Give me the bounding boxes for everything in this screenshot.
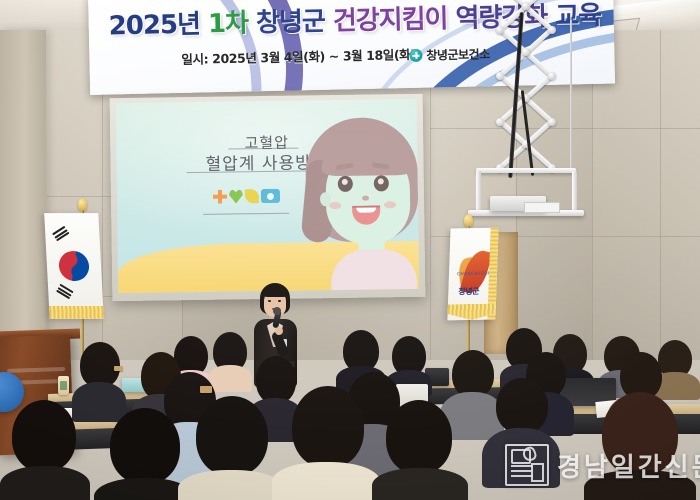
hair-clip bbox=[200, 386, 212, 393]
cartoon-nurse-illustration bbox=[303, 117, 419, 291]
audience-member bbox=[0, 400, 90, 500]
wall-seam bbox=[660, 30, 661, 360]
audience-member bbox=[272, 386, 380, 500]
taeguk-symbol bbox=[53, 245, 95, 287]
projector-scissor-lift bbox=[462, 0, 590, 228]
audience-member bbox=[372, 400, 468, 500]
banner-title-county: 창녕군 bbox=[256, 7, 325, 38]
beverage-cup bbox=[58, 376, 69, 395]
newspaper-icon bbox=[505, 444, 549, 486]
flag-fringe bbox=[49, 306, 104, 319]
audience-member bbox=[178, 396, 284, 500]
wall-pillar bbox=[0, 30, 46, 360]
health-center-logo-icon bbox=[409, 49, 422, 62]
korean-national-flag bbox=[44, 213, 104, 319]
heart-icon bbox=[229, 189, 243, 203]
monitor-icon bbox=[261, 189, 280, 203]
banner-title-session: 1차 bbox=[208, 9, 249, 40]
projection-screen-frame: 고혈압 혈압계 사용방법 bbox=[110, 94, 426, 301]
trigram-icon bbox=[52, 226, 69, 242]
leaf-icon bbox=[245, 189, 259, 203]
lift-label bbox=[524, 202, 560, 213]
lift-guide-rod bbox=[570, 20, 572, 170]
watermark-text: 경남일간신문 bbox=[557, 447, 700, 484]
microphone-head bbox=[273, 307, 281, 315]
banner-date-line: 일시: 2025년 3월 4일(화) ~ 3월 18일(화) bbox=[181, 44, 416, 68]
banner-title-year: 2025년 bbox=[108, 10, 200, 42]
event-photograph: 2025년 1차 창녕군 건강지킴이 역량강화 교육 일시: 2025년 3월 … bbox=[0, 0, 700, 500]
medical-cross-icon bbox=[213, 190, 227, 204]
watermark: 경남일간신문 bbox=[505, 444, 700, 486]
banner-title-program: 건강지킴이 bbox=[333, 4, 448, 36]
county-flag-label: 창녕군 bbox=[458, 286, 479, 297]
slide-underline bbox=[203, 213, 289, 215]
hair-clip bbox=[114, 366, 123, 371]
slide-icon-row bbox=[213, 189, 280, 204]
projection-screen: 고혈압 혈압계 사용방법 bbox=[116, 99, 420, 293]
changnyeong-county-flag: CHANGNYEONG 창녕군 bbox=[447, 228, 498, 321]
trigram-icon bbox=[56, 284, 74, 300]
